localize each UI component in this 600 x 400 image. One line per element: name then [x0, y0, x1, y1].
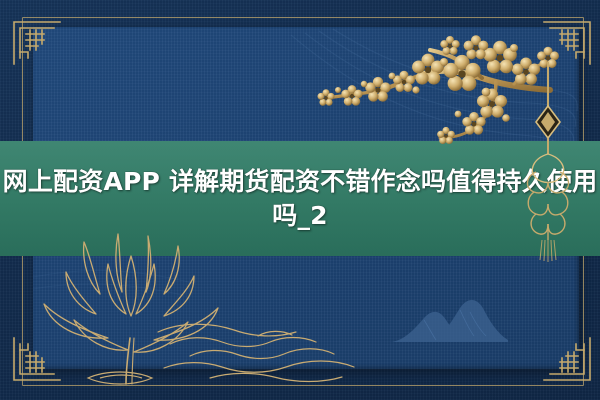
fret-corner-top-left-icon	[8, 12, 68, 77]
page-title-line-1: 网上配资APP 详解期货配资不错作念吗值得持久使	[3, 167, 573, 196]
title-band: 网上配资APP 详解期货配资不错作念吗值得持久使用吗_2	[0, 141, 600, 256]
fret-corner-bottom-left-icon	[8, 330, 68, 395]
page-title: 网上配资APP 详解期货配资不错作念吗值得持久使用吗_2	[2, 165, 598, 233]
fret-corner-top-right-icon	[536, 12, 596, 77]
fret-corner-bottom-right-icon	[536, 330, 596, 395]
poster-canvas: 网上配资APP 详解期货配资不错作念吗值得持久使用吗_2	[0, 0, 600, 400]
